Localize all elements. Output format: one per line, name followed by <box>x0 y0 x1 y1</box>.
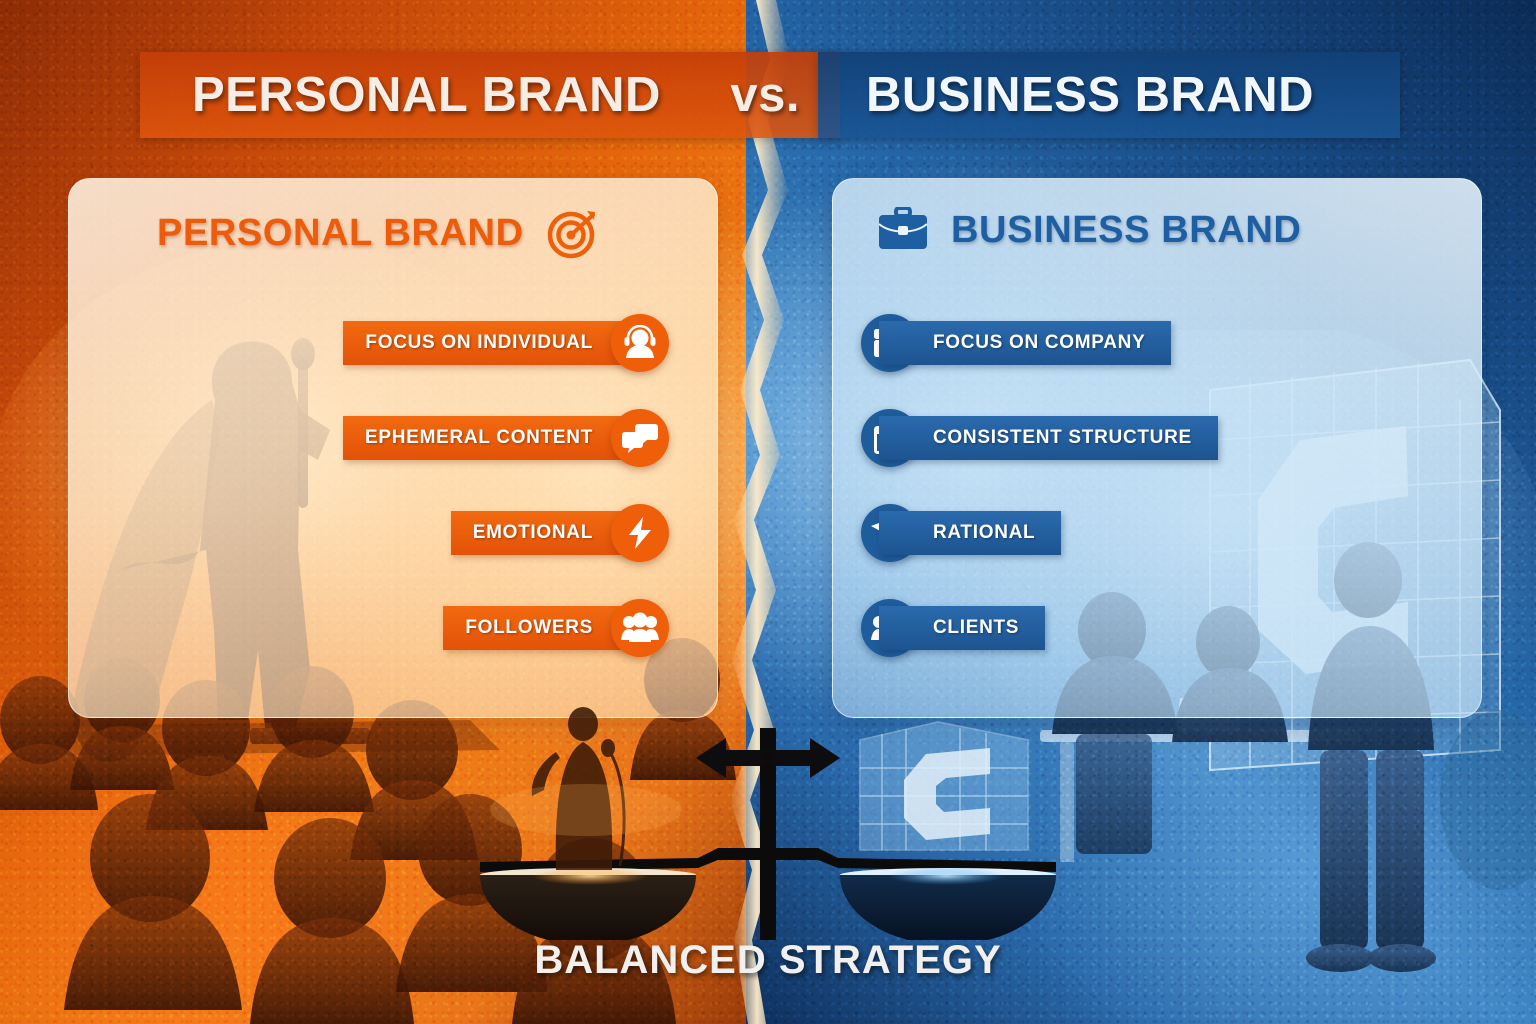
business-item-consistent-structure[interactable]: CONSISTENT STRUCTURE <box>861 414 1218 462</box>
speech-bubbles-icon <box>611 409 669 467</box>
people-group-icon <box>611 599 669 657</box>
personal-brand-title: PERSONAL BRAND <box>157 212 524 255</box>
business-item-clients[interactable]: CLIENTS <box>861 604 1045 652</box>
balance-scale-group <box>468 690 1068 940</box>
person-headset-icon <box>611 314 669 372</box>
personal-brand-card-header: PERSONAL BRAND <box>157 207 598 259</box>
personal-item-label-1: EPHEMERAL CONTENT <box>343 416 651 460</box>
footer-caption: BALANCED STRATEGY <box>0 938 1536 983</box>
briefcase-icon <box>877 207 929 253</box>
personal-item-ephemeral-content[interactable]: EPHEMERAL CONTENT <box>343 414 669 462</box>
business-item-label-2: RATIONAL <box>879 511 1061 555</box>
personal-item-emotional[interactable]: EMOTIONAL <box>451 509 669 557</box>
header-banner-left: PERSONAL BRAND vs. <box>140 52 840 138</box>
arrow-left-icon <box>696 738 764 778</box>
personal-brand-card: PERSONAL BRAND FOCUS ON INDIVIDUAL <box>68 178 718 718</box>
business-brand-card: BUSINESS BRAND FOCUS ON COMPANY <box>832 178 1482 718</box>
header-vs-label: vs. <box>730 67 800 123</box>
personal-item-focus-on-individual[interactable]: FOCUS ON INDIVIDUAL <box>343 319 669 367</box>
header-left-title: PERSONAL BRAND <box>192 67 661 123</box>
lightning-bolt-icon <box>611 504 669 562</box>
scale-pan-left <box>480 867 696 940</box>
business-item-label-1: CONSISTENT STRUCTURE <box>879 416 1218 460</box>
infographic-canvas: PERSONAL BRAND vs. BUSINESS BRAND PERSON… <box>0 0 1536 1024</box>
scale-pan-right <box>840 867 1056 940</box>
business-item-label-0: FOCUS ON COMPANY <box>879 321 1171 365</box>
header-right-title: BUSINESS BRAND <box>866 67 1314 123</box>
business-item-label-3: CLIENTS <box>879 606 1045 650</box>
personal-item-label-0: FOCUS ON INDIVIDUAL <box>343 321 651 365</box>
company-building-logo <box>860 722 1028 850</box>
business-brand-card-header: BUSINESS BRAND <box>877 207 1301 253</box>
target-icon <box>546 207 598 259</box>
business-brand-title: BUSINESS BRAND <box>951 209 1301 252</box>
business-item-rational[interactable]: RATIONAL <box>861 509 1061 557</box>
personal-item-followers[interactable]: FOLLOWERS <box>443 604 669 652</box>
header-banner-right: BUSINESS BRAND <box>818 52 1400 138</box>
business-item-focus-on-company[interactable]: FOCUS ON COMPANY <box>861 319 1171 367</box>
arrow-right-icon <box>772 738 840 778</box>
